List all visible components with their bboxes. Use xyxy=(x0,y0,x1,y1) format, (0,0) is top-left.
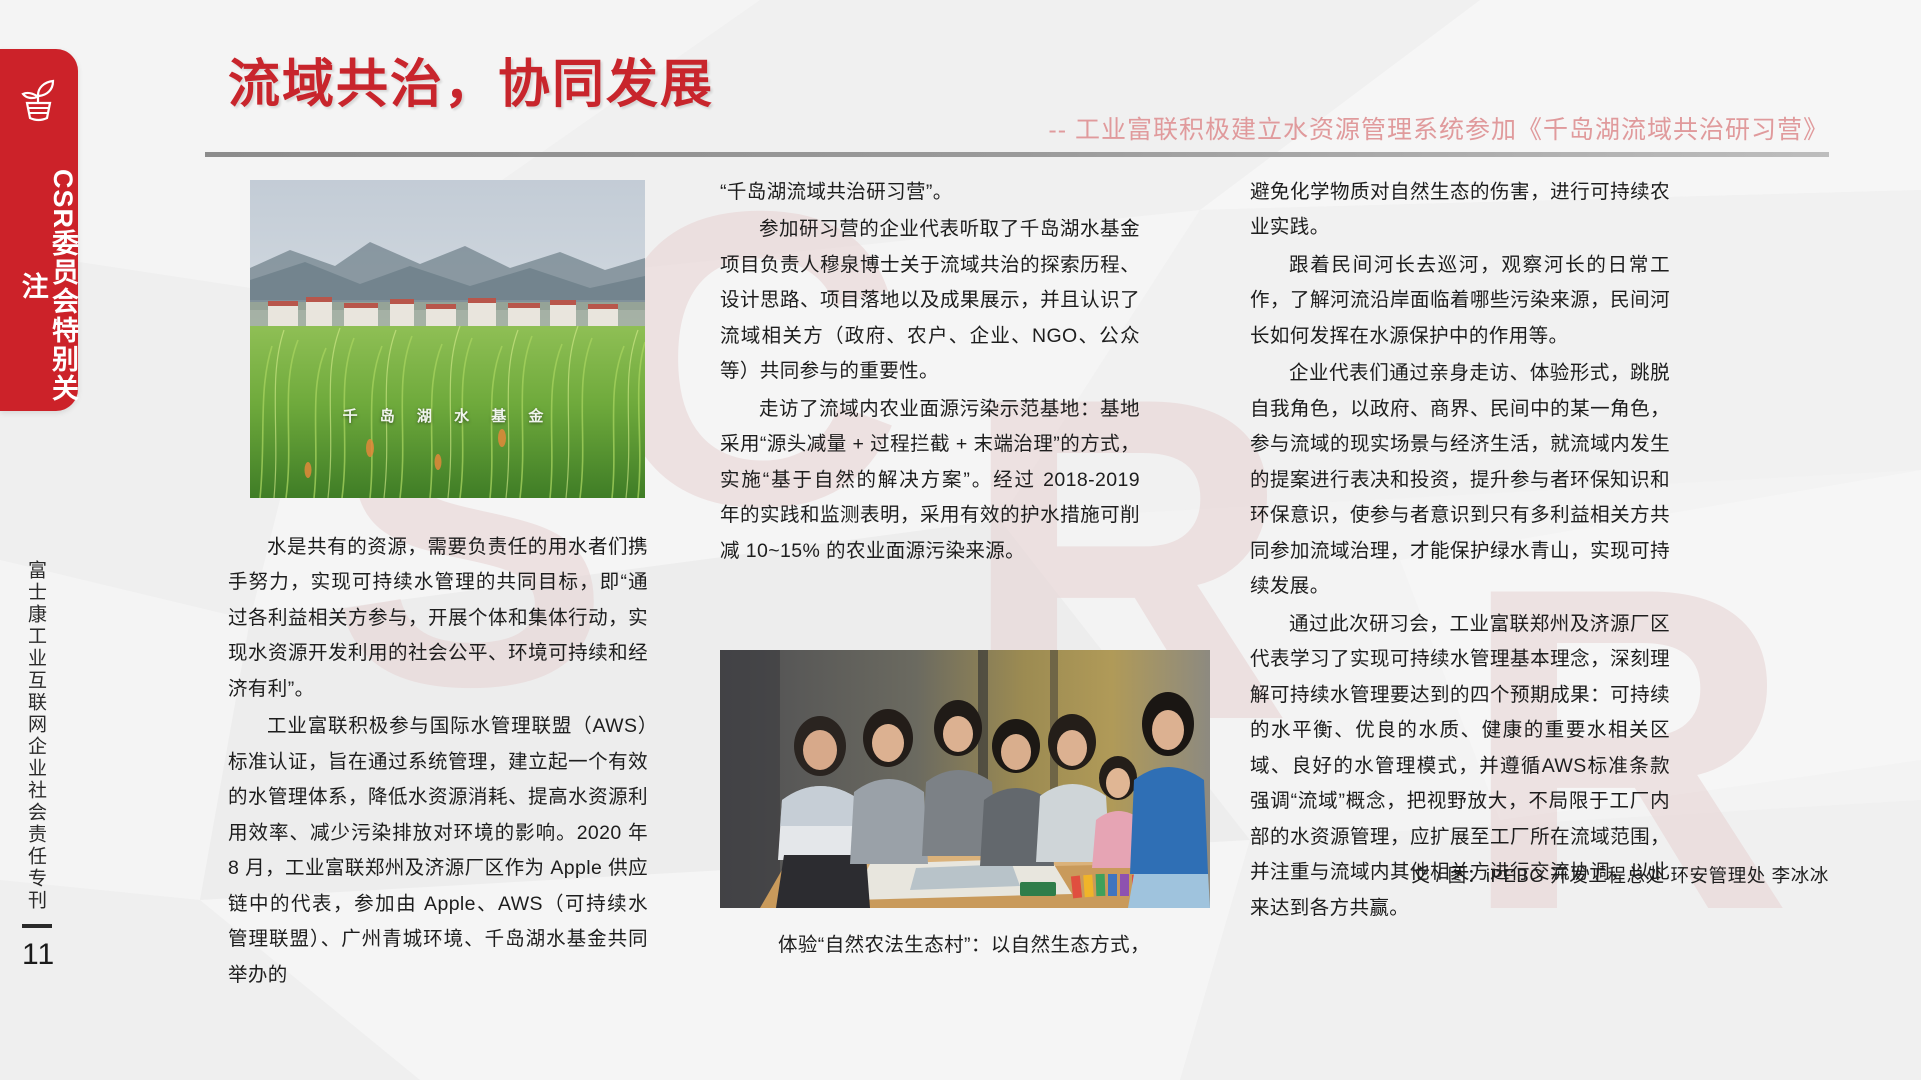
paragraph-mid-3: 走访了流域内农业面源污染示范基地：基地采用“源头减量 + 过程拦截 + 末端治理… xyxy=(720,392,1140,569)
csr-tab-label: 委员会特别关注 xyxy=(18,229,78,403)
csr-tab-text: CSR委员会特别关注 xyxy=(0,161,78,411)
header-divider xyxy=(205,152,1829,157)
paragraph-left-1: 水是共有的资源，需要负责任的用水者们携手努力，实现可持续水管理的共同目标，即“通… xyxy=(228,530,648,707)
spine-publication-title: 富士康工业互联网企业社会责任专刊 xyxy=(26,560,45,912)
csr-tab-latin: CSR xyxy=(48,169,78,229)
paragraph-right-1: 避免化学物质对自然生态的伤害，进行可持续农业实践。 xyxy=(1250,175,1670,246)
csr-committee-tab: CSR委员会特别关注 xyxy=(0,49,78,411)
article-byline: 文 / 图：iPEBG 开发工程总处 环安管理处 李冰冰 xyxy=(1411,862,1829,888)
paragraph-right-3: 企业代表们通过亲身走访、体验形式，跳脱自我角色，以政府、商界、民间中的某一角色，… xyxy=(1250,356,1670,604)
column-right: 避免化学物质对自然生态的伤害，进行可持续农业实践。 跟着民间河长去巡河，观察河长… xyxy=(1250,175,1670,928)
column-left: 水是共有的资源，需要负责任的用水者们携手努力，实现可持续水管理的共同目标，即“通… xyxy=(228,175,648,995)
photo-workshop xyxy=(720,650,1210,908)
paragraph-right-2: 跟着民间河长去巡河，观察河长的日常工作，了解河流沿岸面临着哪些污染来源，民间河长… xyxy=(1250,248,1670,354)
photo-caption: 体验“自然农法生态村”：以自然生态方式， xyxy=(778,928,1218,957)
page-number: 11 xyxy=(22,938,55,972)
page-subtitle: -- 工业富联积极建立水资源管理系统参加《千岛湖流域共治研习营》 xyxy=(1048,110,1829,146)
spine-rule xyxy=(22,924,52,928)
sprout-leaf-icon xyxy=(18,79,60,128)
paragraph-left-2: 工业富联积极参与国际水管理联盟（AWS）标准认证，旨在通过系统管理，建立起一个有… xyxy=(228,709,648,993)
paragraph-mid-2: 参加研习营的企业代表听取了千岛湖水基金项目负责人穆泉博士关于流域共治的探索历程、… xyxy=(720,212,1140,389)
column-middle: “千岛湖流域共治研习营”。 参加研习营的企业代表听取了千岛湖水基金项目负责人穆泉… xyxy=(720,175,1140,571)
page-title: 流域共治，协同发展 xyxy=(228,42,714,117)
paragraph-mid-1: “千岛湖流域共治研习营”。 xyxy=(720,175,1140,210)
magazine-page: C S R S R CSR委员会特别关注 富士康工业互联网企业社会责任专刊 11… xyxy=(0,0,1921,1080)
